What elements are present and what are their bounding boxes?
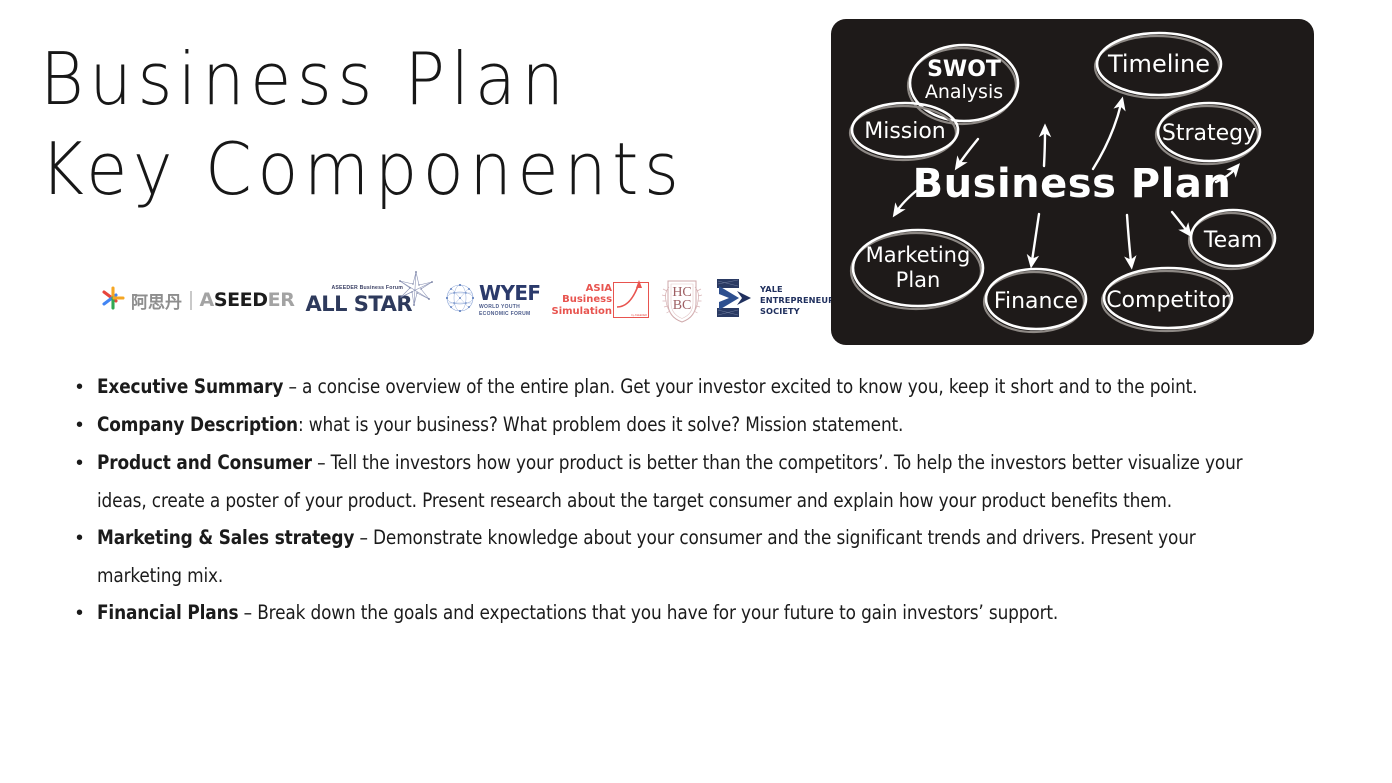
asia-text-block: ASIA Business Simulation (552, 283, 613, 318)
mindmap-node-strategy: Strategy (1162, 121, 1256, 146)
chevron-y-icon (715, 276, 755, 325)
list-item: • Financial Plans – Break down the goals… (62, 594, 1324, 632)
bullet-marker: • (62, 368, 97, 406)
page-title: Business Plan Key Components (40, 34, 830, 214)
bullet-term: Company Description (97, 413, 298, 436)
list-item: • Company Description: what is your busi… (62, 406, 1324, 444)
wyef-wordmark: WYEF (479, 283, 540, 303)
asia-line-2: Business (552, 294, 613, 306)
bullet-content: Company Description: what is your busine… (97, 406, 1281, 444)
logo-all-star: ASEEDER Business Forum ALL STAR (305, 274, 432, 326)
bullet-content: Product and Consumer – Tell the investor… (97, 444, 1281, 519)
mindmap-node-competitor: Competitor (1106, 288, 1231, 313)
mindmap-node-swot-line-2: Analysis (925, 81, 1003, 103)
multicolor-asterisk-icon (100, 285, 126, 316)
mindmap-node-finance: Finance (994, 289, 1078, 314)
arrow-to-competitor (1127, 215, 1131, 262)
aseeder-wordmark: ASEEDER (200, 289, 295, 311)
hcbc-line-2: BC (660, 299, 704, 312)
title-line-1: Business Plan (40, 34, 775, 124)
aseeder-word-part-1: A (200, 289, 214, 311)
network-globe-icon (443, 281, 477, 320)
bullet-body: – a concise overview of the entire plan.… (283, 375, 1197, 398)
bullet-marker: • (62, 444, 97, 482)
wyef-subtitle-line-2: ECONOMIC FORUM (479, 311, 540, 317)
bullet-marker: • (62, 519, 97, 557)
bullet-content: Financial Plans – Break down the goals a… (97, 594, 1281, 632)
mindmap-node-timeline: Timeline (1107, 50, 1210, 78)
mindmap-node-marketing-line-2: Plan (896, 268, 941, 292)
logo-hcbc: HC BC (660, 275, 704, 325)
logo-asia-business-simulation: ASIA Business Simulation by ASEEDER (552, 274, 650, 326)
business-plan-mindmap-image: .chalk { fill: #ffffff; font-family: "De… (831, 19, 1314, 345)
list-item: • Executive Summary – a concise overview… (62, 368, 1324, 406)
wyef-text-block: WYEF WORLD YOUTH ECONOMIC FORUM (479, 283, 540, 317)
list-item: • Marketing & Sales strategy – Demonstra… (62, 519, 1324, 594)
key-components-list: • Executive Summary – a concise overview… (62, 368, 1324, 632)
arrow-to-timeline (1093, 104, 1121, 169)
list-item: • Product and Consumer – Tell the invest… (62, 444, 1324, 519)
arrow-to-team (1172, 212, 1187, 231)
bullet-body: : what is your business? What problem do… (298, 413, 903, 436)
logo-yale-entrepreneurial-society: YALE ENTREPRENEURIAL SOCIETY (715, 274, 849, 326)
arrow-to-swot (1044, 131, 1045, 166)
title-line-2: Key Components (40, 124, 775, 214)
partner-logo-strip: 阿思丹 ASEEDER ASEEDER Business Forum ALL S… (100, 272, 849, 328)
bullet-content: Executive Summary – a concise overview o… (97, 368, 1281, 406)
bullet-term: Financial Plans (97, 601, 238, 624)
mindmap-node-mission: Mission (864, 119, 946, 144)
bullet-marker: • (62, 406, 97, 444)
growth-curve-icon: by ASEEDER (613, 282, 649, 318)
mindmap-node-marketing-line-1: Marketing (866, 243, 971, 267)
asia-credit: by ASEEDER (631, 314, 647, 317)
bullet-marker: • (62, 594, 97, 632)
bullet-body: – Break down the goals and expectations … (238, 601, 1058, 624)
bullet-term: Marketing & Sales strategy (97, 526, 354, 549)
mindmap-node-team: Team (1203, 228, 1262, 253)
bullet-term: Executive Summary (97, 375, 283, 398)
mindmap-node-swot-line-1: SWOT (927, 57, 1001, 82)
star-burst-icon (396, 268, 436, 313)
bullet-content: Marketing & Sales strategy – Demonstrate… (97, 519, 1281, 594)
asia-line-3: Simulation (552, 306, 613, 318)
asia-line-1: ASIA (552, 283, 613, 295)
aseeder-word-part-3: ER (268, 289, 295, 311)
hcbc-letters: HC BC (660, 286, 704, 312)
arrow-to-finance (1032, 214, 1039, 261)
logo-aseeder: 阿思丹 ASEEDER (100, 274, 294, 326)
bullet-term: Product and Consumer (97, 451, 312, 474)
logo-divider (190, 291, 192, 310)
aseeder-word-part-2: SEED (214, 289, 268, 311)
aseeder-chinese-name: 阿思丹 (131, 288, 182, 313)
logo-wyef: WYEF WORLD YOUTH ECONOMIC FORUM (443, 274, 540, 326)
mindmap-center-label: Business Plan (913, 161, 1232, 207)
